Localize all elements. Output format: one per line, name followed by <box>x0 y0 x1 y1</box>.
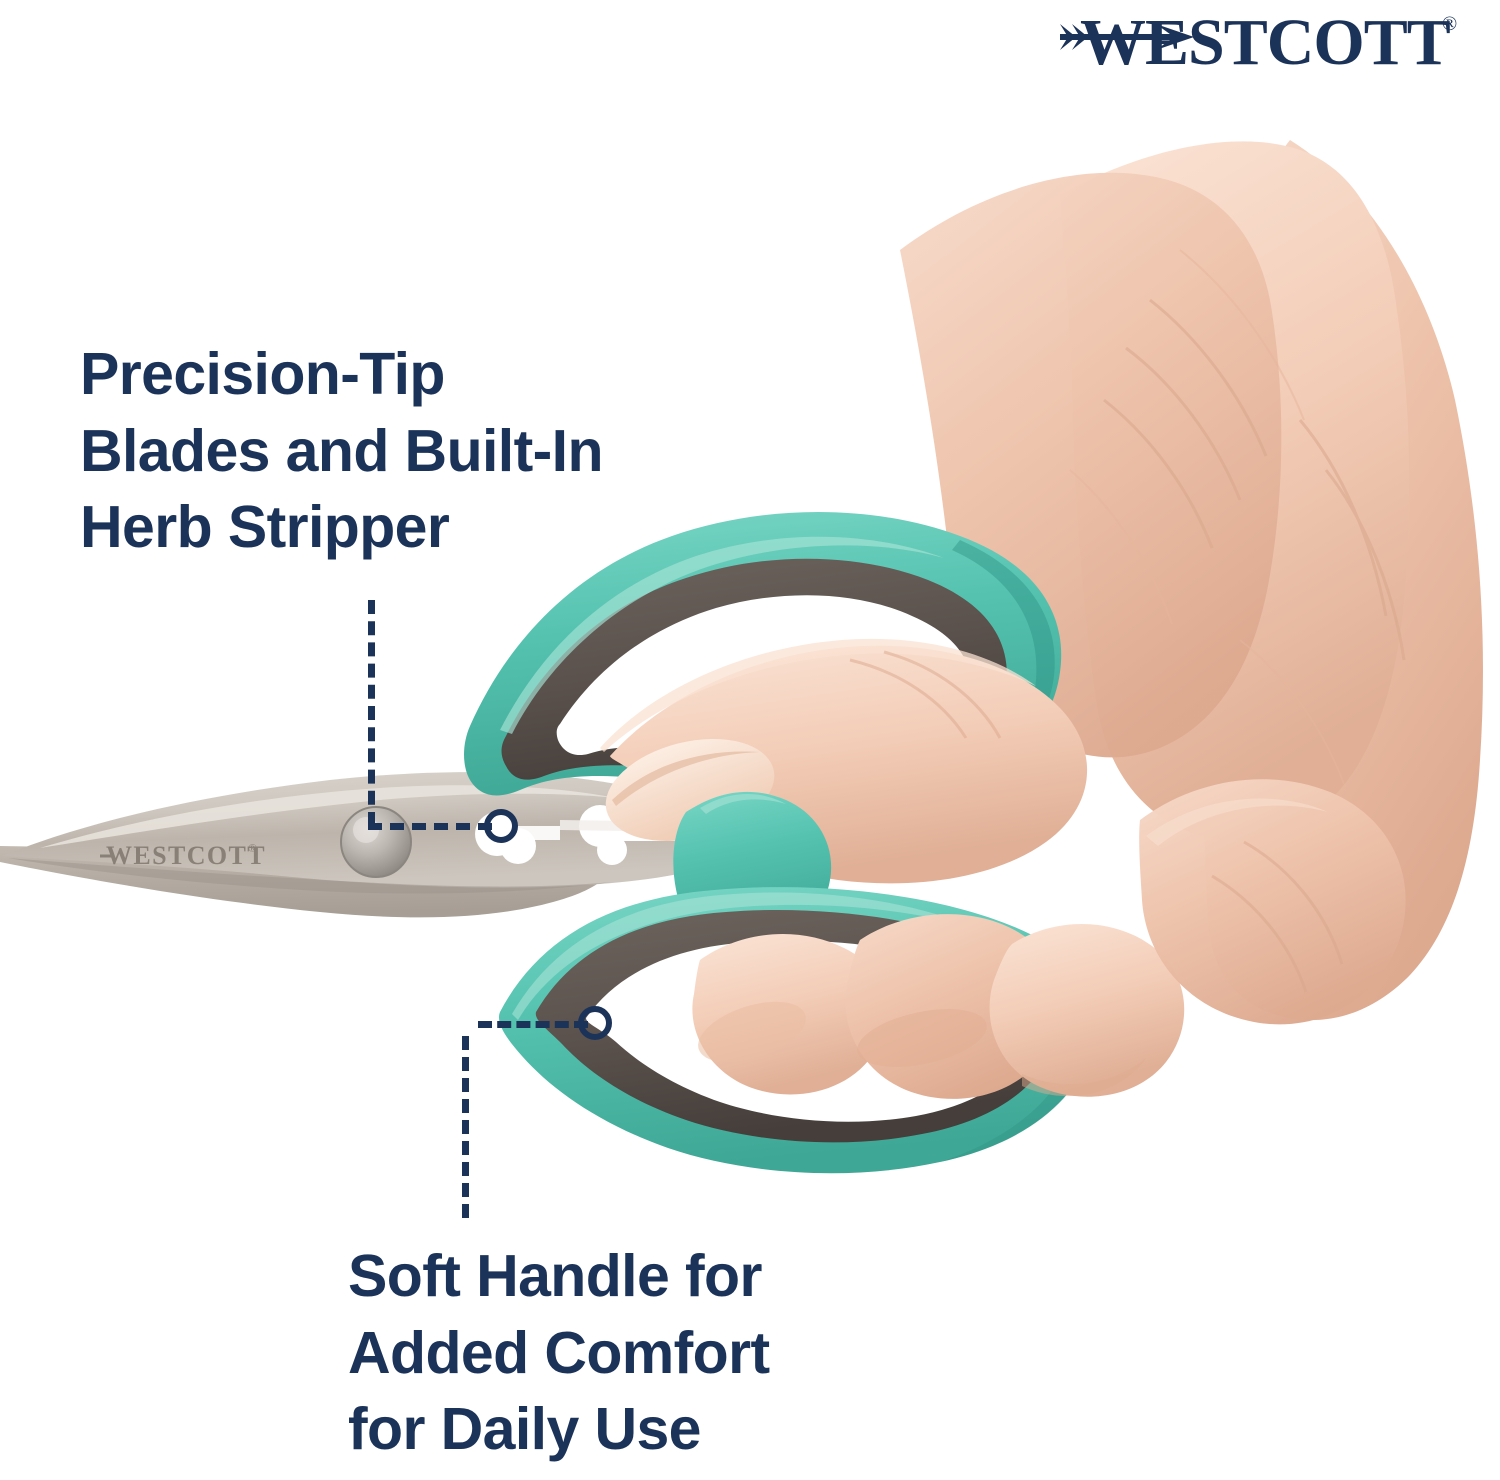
marker-circle-soft-handle <box>578 1006 612 1040</box>
leader-vertical-segment-top <box>368 600 375 826</box>
marker-circle-precision-tip <box>484 809 518 843</box>
brand-logo: WESTCOTT ® WESTCOTT <box>1056 2 1476 80</box>
leader-horizontal-segment-top <box>368 823 492 830</box>
pivot-screw <box>341 807 411 877</box>
blade-etch-logo: WESTCOTT ® <box>100 841 266 870</box>
callout-precision-tip: Precision-Tip Blades and Built-In Herb S… <box>80 336 603 566</box>
registered-trademark-icon: ® <box>1442 13 1457 35</box>
svg-text:WESTCOTT: WESTCOTT <box>106 841 266 870</box>
svg-text:®: ® <box>248 841 257 855</box>
leader-vertical-segment-bottom <box>462 1036 469 1218</box>
svg-text:WESTCOTT: WESTCOTT <box>1080 6 1451 79</box>
fingers-in-lower-handle <box>691 914 1185 1099</box>
westcott-wordmark-icon: WESTCOTT ® <box>1056 2 1476 80</box>
leader-horizontal-segment-bottom <box>478 1021 588 1028</box>
product-feature-image: WESTCOTT ® <box>0 0 1500 1480</box>
callout-soft-handle: Soft Handle for Added Comfort for Daily … <box>348 1238 770 1468</box>
